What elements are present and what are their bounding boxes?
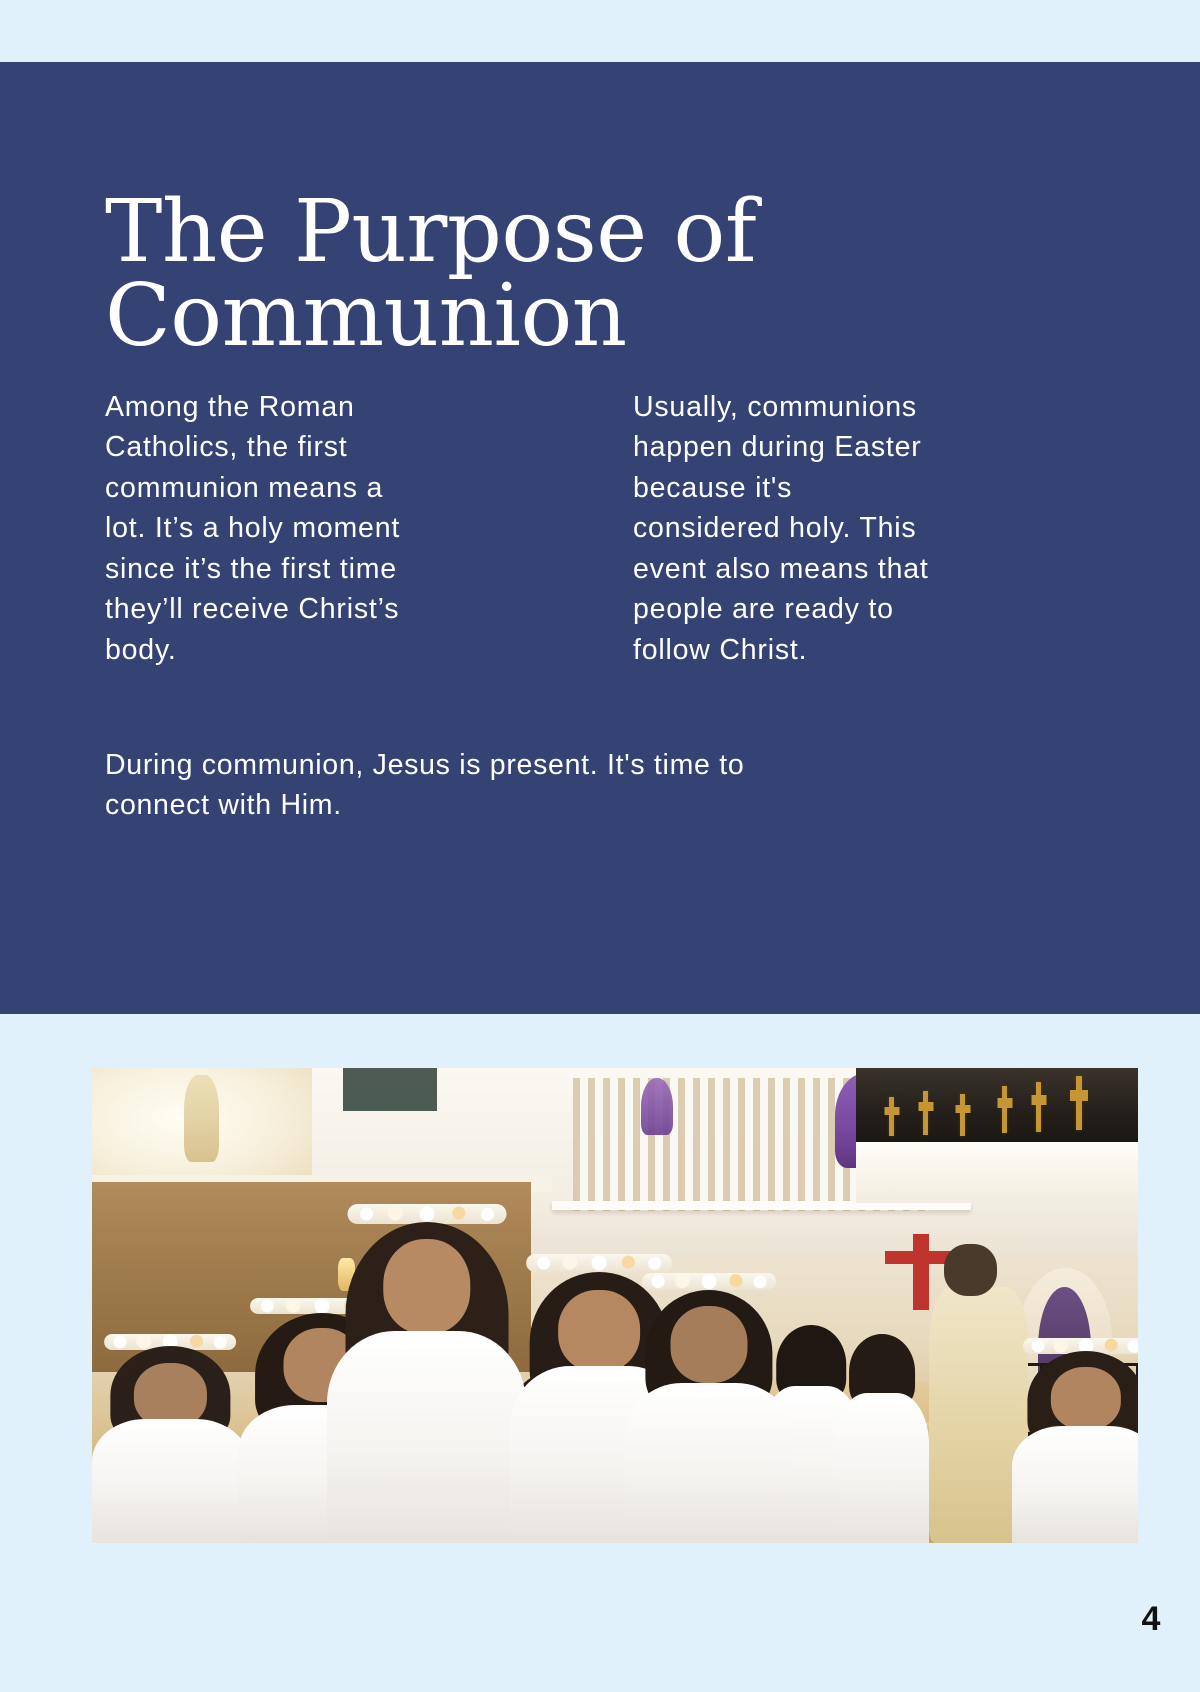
child-figure-crowned (1012, 1334, 1138, 1543)
balcony-underside (856, 1146, 1138, 1203)
child-face (383, 1239, 470, 1335)
gold-cross-icon (1036, 1082, 1041, 1132)
red-cross-icon (913, 1234, 929, 1310)
column-left: Among the Roman Catholics, the first com… (105, 387, 501, 670)
projection-figure (184, 1075, 219, 1161)
child-figure (835, 1334, 929, 1543)
gold-cross-icon (923, 1091, 928, 1135)
floral-crown (642, 1273, 776, 1290)
gold-cross-icon (1002, 1086, 1007, 1133)
intro-columns: Among the Roman Catholics, the first com… (105, 387, 1105, 670)
projection-screen (92, 1068, 312, 1192)
gold-cross-icon (960, 1094, 965, 1137)
column-right-text: Usually, communions happen during Easter… (633, 387, 1029, 670)
priest-head (944, 1244, 996, 1296)
child-figure-crowned (625, 1268, 792, 1544)
child-robe (327, 1331, 526, 1543)
child-robe (1012, 1426, 1138, 1543)
closing-paragraph: During communion, Jesus is present. It's… (105, 745, 1035, 826)
communion-photo (92, 1068, 1138, 1543)
child-robe (92, 1419, 249, 1543)
column-left-text: Among the Roman Catholics, the first com… (105, 387, 501, 670)
child-face (1051, 1367, 1121, 1430)
hero-panel: The Purpose of Communion Among the Roman… (0, 62, 1200, 1014)
child-robe (835, 1393, 929, 1543)
column-right: Usually, communions happen during Easter… (633, 387, 1029, 670)
child-robe (625, 1383, 792, 1543)
photo-illustration (92, 1068, 1138, 1543)
purple-draped-statue-small (641, 1078, 672, 1135)
child-figure-crowned (327, 1201, 526, 1543)
child-figure-crowned (92, 1329, 249, 1543)
gold-cross-icon (1076, 1076, 1082, 1131)
gold-cross-icon (889, 1097, 894, 1137)
page-number: 4 (1131, 1602, 1171, 1636)
closing-text: During communion, Jesus is present. It's… (105, 745, 1035, 826)
page-title: The Purpose of Communion (105, 190, 805, 359)
child-face (671, 1306, 748, 1383)
balcony (856, 1068, 1138, 1144)
child-face (134, 1363, 206, 1427)
dark-banner (343, 1068, 437, 1111)
